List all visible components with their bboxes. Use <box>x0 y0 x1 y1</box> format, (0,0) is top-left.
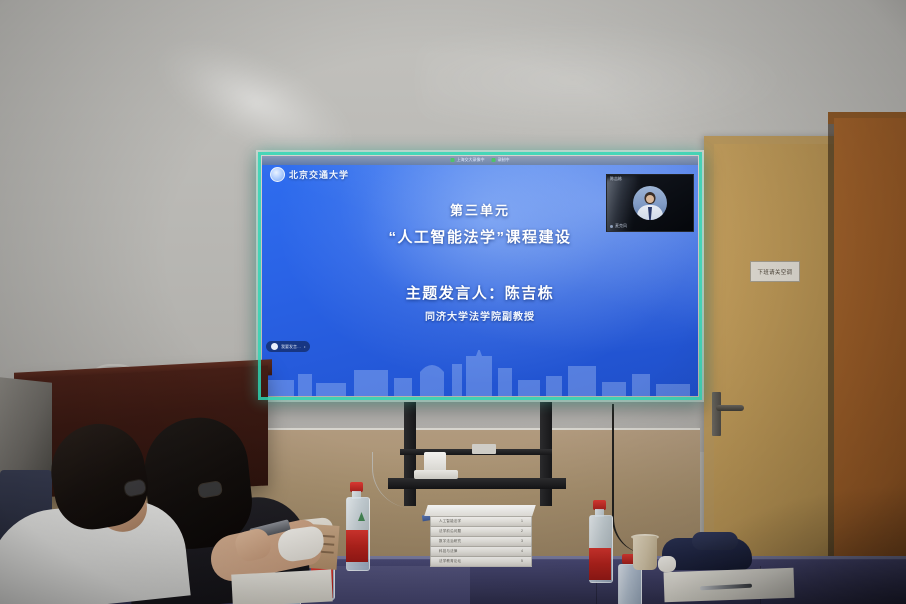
door-handle-icon[interactable] <box>716 405 744 411</box>
avatar <box>633 186 667 220</box>
university-seal-icon <box>270 167 285 182</box>
black-cable <box>612 404 648 554</box>
book-title: 数字法治研究 <box>439 539 461 544</box>
slide-speaker-affiliation: 同济大学法学院副教授 <box>262 308 698 323</box>
book-title: 人工智能法学 <box>439 519 461 524</box>
recording-status-chip: 上海交大录像中 <box>451 157 485 163</box>
signal-icon <box>492 158 496 162</box>
book-number: 4 <box>521 549 523 553</box>
book-number: 2 <box>521 529 523 533</box>
book-number: 1 <box>521 519 523 523</box>
bottle-label <box>589 548 611 580</box>
bag-strap <box>692 532 738 550</box>
recording-status-label: 上海交大录像中 <box>457 157 485 163</box>
door-lock-plate <box>712 392 721 436</box>
book-number: 5 <box>521 559 523 563</box>
book-title: 科技与法律 <box>439 549 458 554</box>
signal-icon <box>451 158 455 162</box>
paper-cup <box>633 536 657 570</box>
avatar-face <box>646 195 654 203</box>
book-top-cover <box>424 505 536 516</box>
room-door[interactable] <box>714 144 840 556</box>
book-number: 3 <box>521 539 523 543</box>
microphone-label: 麦克风 <box>615 223 627 229</box>
wall-ambient-glow <box>420 20 800 140</box>
napkin <box>658 556 676 572</box>
documents <box>231 569 333 604</box>
bottle-body <box>618 564 642 604</box>
video-participant-name: 陈吉栋 <box>610 176 622 182</box>
bottle-label <box>346 530 368 562</box>
book-title: 法学教育论坛 <box>439 559 461 564</box>
second-door[interactable] <box>834 118 906 558</box>
university-logo: 北京交通大学 <box>270 167 349 182</box>
microphone-status: 麦克风 <box>610 223 627 229</box>
list-item: 法学教育论坛 5 <box>430 556 532 567</box>
power-strip <box>414 470 458 479</box>
university-name: 北京交通大学 <box>289 168 349 181</box>
slide-speaker-name: 主题发言人：陈吉栋 <box>262 282 698 303</box>
door-sign-text: 下班请关空调 <box>758 267 793 275</box>
room-photo-scene: 下班请关空调 上海交大录像中 录制中 北京交通大学 第三单元 <box>0 0 906 604</box>
microphone-icon <box>610 225 613 228</box>
skyline-graphic <box>262 350 698 396</box>
speak-request-label: 我要发言… <box>281 344 301 350</box>
recording-indicator-chip: 录制中 <box>492 157 510 163</box>
recording-indicator-label: 录制中 <box>498 157 510 163</box>
stand-label-plate <box>472 444 496 454</box>
chevron-down-icon: • <box>304 344 305 349</box>
book-title: 法学前沿问题 <box>439 529 461 534</box>
presentation-screen[interactable]: 上海交大录像中 录制中 北京交通大学 第三单元 “人工智能法学”课程建设 主题发… <box>262 156 698 396</box>
participant-icon <box>271 343 278 350</box>
video-call-window[interactable]: 陈吉栋 麦克风 <box>606 174 694 232</box>
conference-top-bar-items: 上海交大录像中 录制中 <box>451 157 510 163</box>
book-stack: 人工智能法学 1 法学前沿问题 2 数字法治研究 3 科技与法律 4 法学教育论… <box>430 514 534 564</box>
door-notice-sign: 下班请关空调 <box>750 261 800 282</box>
